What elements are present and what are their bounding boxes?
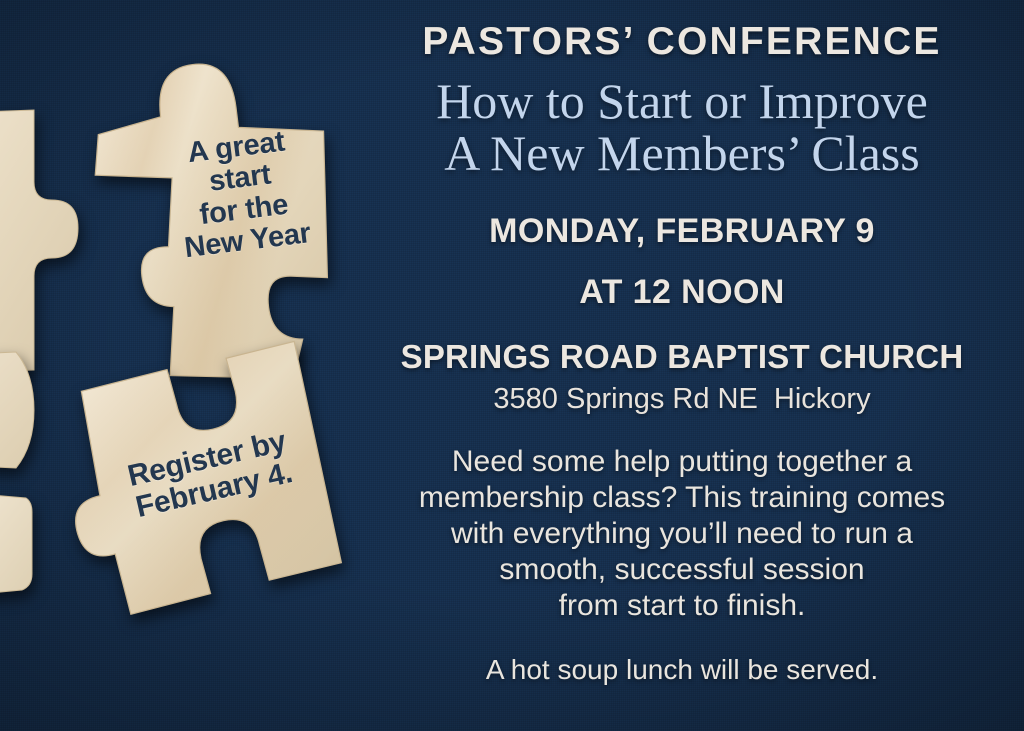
event-kicker: PASTORS’ CONFERENCE: [340, 20, 1024, 64]
event-description: Need some help putting together a member…: [340, 444, 1024, 624]
lunch-note: A hot soup lunch will be served.: [340, 654, 1024, 686]
event-date: MONDAY, FEBRUARY 9: [340, 212, 1024, 251]
flyer-text-column: PASTORS’ CONFERENCE How to Start or Impr…: [340, 0, 1024, 731]
event-title: How to Start or Improve A New Members’ C…: [340, 76, 1024, 179]
puzzle-piece-new-year-label: A great start for the New Year: [145, 121, 339, 267]
venue-address: 3580 Springs Rd NE Hickory: [340, 383, 1024, 416]
event-time: AT 12 NOON: [340, 273, 1024, 312]
conference-flyer: A great start for the New Year: [0, 0, 1024, 731]
venue-name: SPRINGS ROAD BAPTIST CHURCH: [340, 338, 1024, 376]
